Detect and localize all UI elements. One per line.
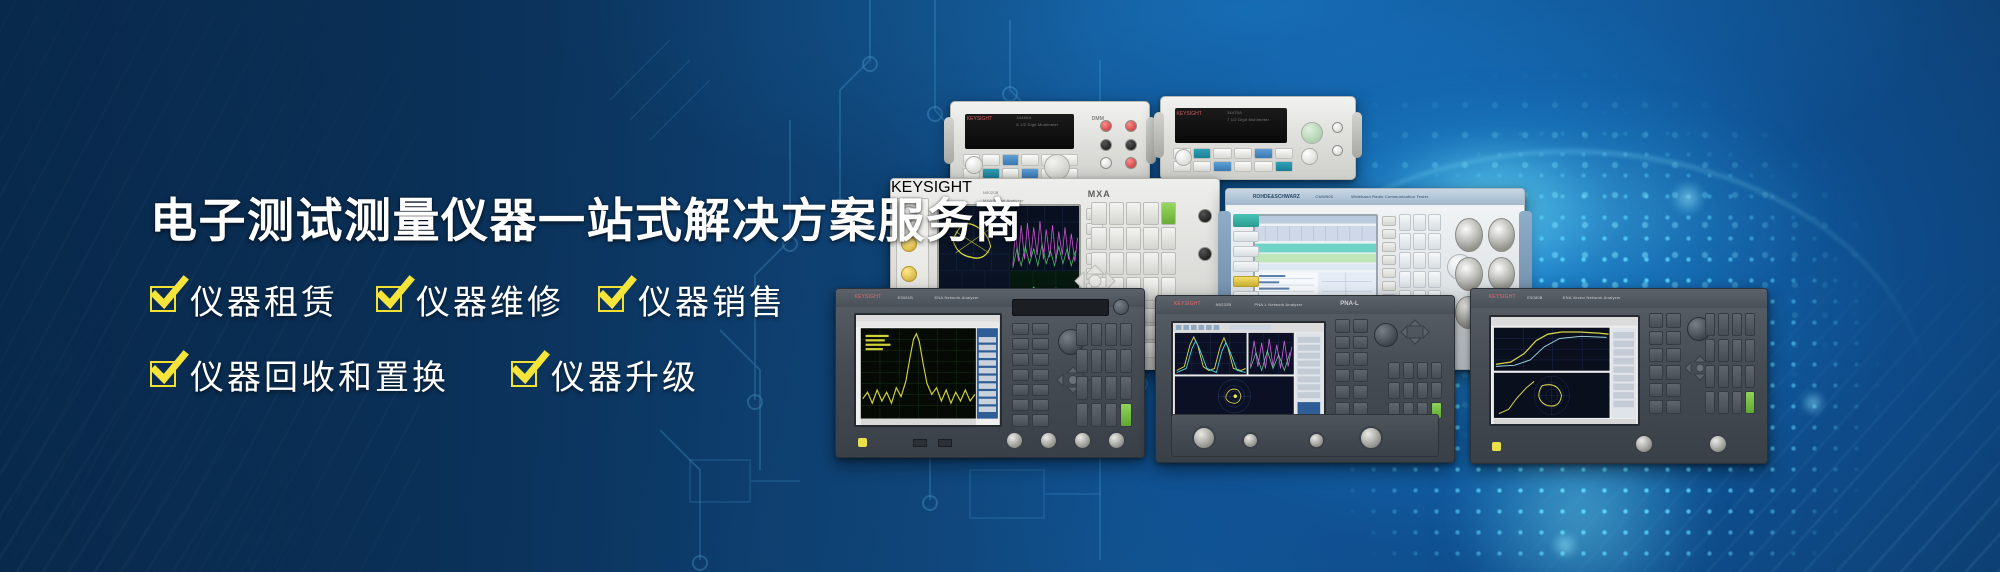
instrument-digital-multimeter-right: KEYSIGHT 34470A 7 1/2 Digit Multimeter [1160, 96, 1356, 180]
service-item-instrument-repair[interactable]: 仪器维修 [376, 275, 564, 324]
checkbox-checked-icon [376, 286, 402, 312]
service-item-instrument-recycle-exchange[interactable]: 仪器回收和置换 [150, 350, 449, 399]
service-list: 仪器租赁 仪器维修 仪器销售 [150, 275, 1050, 399]
service-item-label: 仪器维修 [416, 275, 564, 324]
instrument-display [1171, 321, 1326, 424]
instrument-badge: PNA-L [1340, 301, 1358, 307]
service-item-label: 仪器租赁 [190, 275, 338, 324]
instrument-digital-multimeter-left: KEYSIGHT 34465A 6 1/2 Digit Multimeter D… [950, 101, 1150, 187]
instrument-model: 34465A [1016, 115, 1031, 120]
service-row-1: 仪器租赁 仪器维修 仪器销售 [150, 275, 1050, 324]
instrument-model: E5080B [1527, 295, 1542, 300]
checkbox-checked-icon [150, 361, 176, 387]
instrument-display [1489, 315, 1640, 426]
instrument-subtitle: PNA-L Network Analyzer [1254, 302, 1302, 307]
service-item-instrument-sales[interactable]: 仪器销售 [598, 275, 786, 324]
instrument-network-analyzer-bottom-mid: KEYSIGHT N5232B PNA-L Network Analyzer P… [1155, 295, 1455, 463]
instrument-network-analyzer-bottom-right: KEYSIGHT E5080B ENA Vector Network Analy… [1470, 288, 1768, 464]
instrument-brand: KEYSIGHT [967, 116, 992, 122]
instrument-subtitle: ENA Vector Network Analyzer [1563, 295, 1621, 300]
instrument-brand: KEYSIGHT [1489, 294, 1516, 300]
instrument-subtitle: Wideband Radio Communication Tester [1351, 194, 1428, 199]
service-item-label: 仪器升级 [551, 350, 699, 399]
checkbox-checked-icon [511, 361, 537, 387]
hero-banner: 电子测试测量仪器一站式解决方案服务商 仪器租赁 [0, 0, 2000, 572]
instrument-brand: KEYSIGHT [1177, 111, 1202, 117]
service-item-label: 仪器回收和置换 [190, 350, 449, 399]
service-item-instrument-rental[interactable]: 仪器租赁 [150, 275, 338, 324]
globe-bokeh-c [1550, 530, 1580, 560]
service-item-label: 仪器销售 [638, 275, 786, 324]
instrument-model: 34470A [1227, 110, 1242, 115]
service-item-instrument-upgrade[interactable]: 仪器升级 [511, 350, 699, 399]
instrument-subtitle: 7 1/2 Digit Multimeter [1227, 117, 1269, 122]
banner-copy: 电子测试测量仪器一站式解决方案服务商 仪器租赁 [150, 196, 1050, 399]
service-row-2: 仪器回收和置换 仪器升级 [150, 350, 1050, 399]
checkbox-checked-icon [150, 286, 176, 312]
instrument-subtitle: 6 1/2 Digit Multimeter [1016, 122, 1058, 127]
instrument-model: CMW500 [1315, 194, 1333, 199]
page-title: 电子测试测量仪器一站式解决方案服务商 [150, 196, 1050, 249]
instrument-brand: KEYSIGHT [1174, 301, 1201, 307]
checkbox-checked-icon [598, 286, 624, 312]
instrument-badge: MXA [1088, 189, 1111, 199]
instrument-cluster: KEYSIGHT 34465A 6 1/2 Digit Multimeter D… [1030, 88, 1950, 518]
instrument-brand: ROHDE&SCHWARZ [1253, 194, 1300, 200]
instrument-model: N5232B [1216, 302, 1232, 307]
